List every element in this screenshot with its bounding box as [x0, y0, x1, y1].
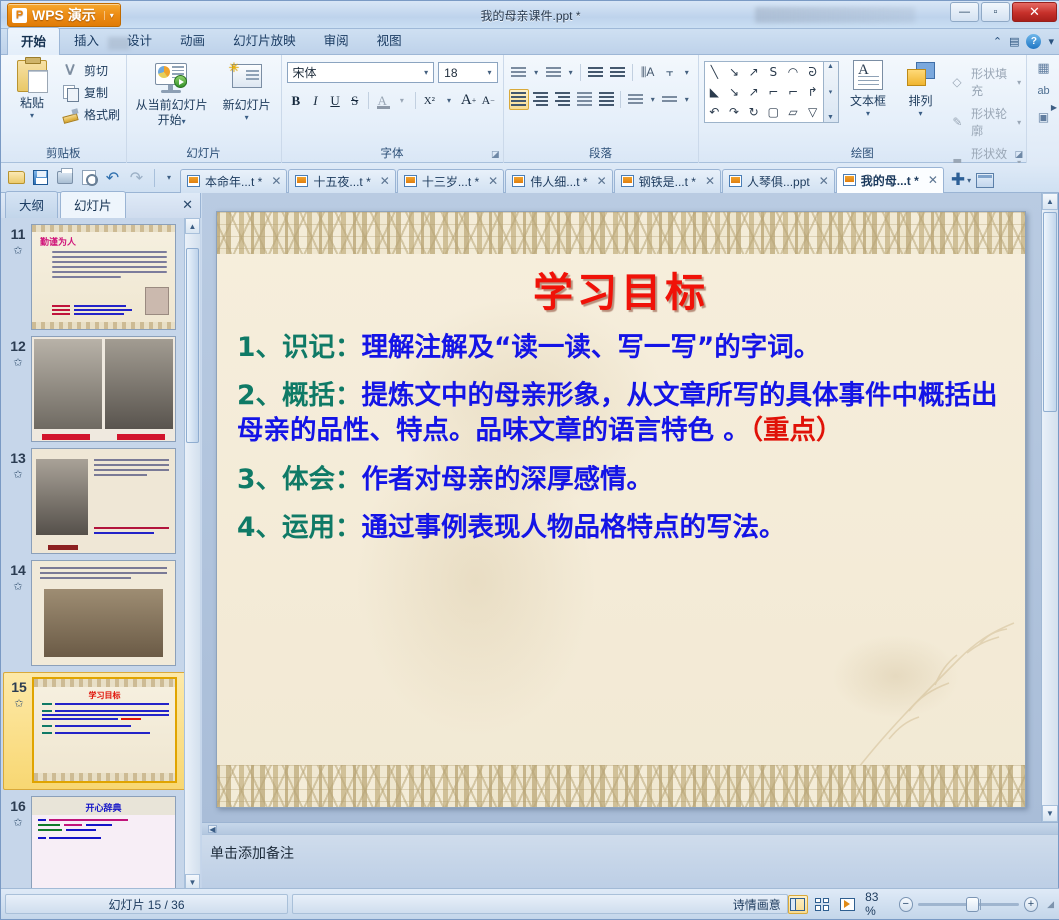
zoom-slider[interactable]: [918, 903, 1019, 906]
shape-rectangle[interactable]: ▢: [763, 102, 783, 122]
arrange-label: 排列: [898, 92, 944, 109]
ribbon-group-paragraph: ▾ ▾ ⫼A ⫟ ▾ ▾ ▾: [503, 55, 698, 163]
wps-logo-icon: P: [12, 8, 27, 23]
notes-placeholder[interactable]: 单击添加备注: [210, 843, 1058, 863]
find-replace-icon[interactable]: ab: [1033, 85, 1055, 105]
close-icon[interactable]: ✕: [267, 174, 281, 188]
divider: [415, 92, 416, 109]
shape-parallelogram[interactable]: ▱: [783, 102, 803, 122]
print-button[interactable]: [54, 167, 75, 188]
align-right-button[interactable]: [552, 89, 573, 110]
replace-fonts-icon[interactable]: ▦: [1033, 60, 1055, 80]
close-icon[interactable]: ✕: [924, 173, 938, 187]
chevron-down-icon[interactable]: ▾: [440, 90, 459, 111]
play-slideshow-icon: [840, 898, 855, 911]
copy-icon: [62, 85, 79, 101]
cut-button[interactable]: 剪切: [62, 62, 120, 79]
slide-bullet-1: 1、识记：理解注解及“读一读、写一写”的字词。: [237, 330, 1009, 365]
presentation-file-icon: [187, 175, 200, 187]
thumbnail-preview: 开心辞典: [31, 796, 176, 890]
document-tab-bar: ↶ ↷ ▾ 本命年...t * ✕ 十五夜...t * ✕ 十三岁...t * …: [1, 163, 1059, 193]
wps-app-button[interactable]: P WPS 演示 ▾: [7, 3, 121, 27]
document-tab-label: 伟人细...t *: [530, 173, 587, 190]
chevron-down-icon[interactable]: ▾: [1017, 78, 1021, 87]
group-label-font: 字体: [282, 145, 503, 161]
font-dialog-launcher[interactable]: ◪: [491, 149, 500, 160]
superscript-button[interactable]: X²: [420, 90, 439, 111]
scissors-icon: [62, 63, 79, 79]
fill-bucket-icon: ◇: [952, 75, 966, 89]
from-current-label: 从当前幻灯片: [132, 98, 212, 113]
shape-curved-connector[interactable]: ↶: [705, 102, 725, 122]
document-tab-label: 我的母...t *: [861, 172, 919, 189]
text-direction-button[interactable]: ⫼A: [637, 62, 658, 83]
zoom-slider-tick: [980, 899, 981, 910]
thumbnail-number: 15 ✩: [6, 677, 32, 783]
slide-title[interactable]: 学习目标: [217, 260, 1025, 318]
wps-presentation-window: 我的母亲课件.ppt * P WPS 演示 ▾ — ▫ ✕ 开始 插入 设计 动…: [0, 0, 1059, 920]
format-painter-button[interactable]: 格式刷: [62, 106, 120, 123]
resize-grip-icon[interactable]: ◢: [1043, 899, 1054, 910]
window-controls: — ▫ ✕: [950, 2, 1057, 22]
close-icon[interactable]: ✕: [815, 174, 829, 188]
maximize-button[interactable]: ▫: [981, 2, 1010, 22]
chevron-down-icon[interactable]: ▾: [681, 62, 692, 83]
font-color-button[interactable]: A: [373, 90, 392, 111]
shrink-font-button[interactable]: A−: [479, 90, 498, 111]
paste-icon: [17, 60, 47, 92]
title-bar: 我的母亲课件.ppt * P WPS 演示 ▾ — ▫ ✕: [1, 1, 1059, 29]
thumbnail-item-12[interactable]: 12 ✩: [1, 330, 201, 442]
document-tab-0[interactable]: 本命年...t * ✕: [180, 169, 287, 193]
arrange-icon: [905, 60, 937, 90]
shape-line-2[interactable]: ◣: [705, 82, 725, 102]
normal-view-icon: [790, 898, 805, 911]
chevron-down-icon[interactable]: ▾: [421, 68, 431, 77]
new-slide-icon: ✳: [227, 62, 267, 96]
ribbon-group-slide: 从当前幻灯片 开始▾ ✳ 新幻灯片 ▾ 幻灯片: [126, 55, 281, 163]
shape-trapezoid[interactable]: ▽: [803, 102, 823, 122]
chevron-down-icon[interactable]: ▾: [393, 90, 412, 111]
pen-outline-icon: ✎: [952, 115, 966, 129]
divider: [154, 169, 155, 187]
slideshow-view-button[interactable]: [837, 895, 857, 914]
status-bar: 幻灯片 15 / 36 诗情画意 83 % − + ◢: [1, 888, 1059, 919]
group-label-slide: 幻灯片: [127, 145, 281, 161]
bullet-number: 2、: [237, 380, 282, 411]
thumbnail-preview: [31, 560, 176, 666]
splitter-grip-icon[interactable]: ◀: [208, 825, 217, 833]
redo-button[interactable]: ↷: [126, 167, 147, 188]
document-tab-1[interactable]: 十五夜...t * ✕: [288, 169, 395, 193]
minimize-button[interactable]: —: [950, 2, 979, 22]
chevron-down-icon[interactable]: ▾: [843, 109, 894, 118]
align-text-button[interactable]: ⫟: [659, 62, 680, 83]
scrollbar-thumb[interactable]: [186, 248, 199, 443]
presentation-file-icon: [729, 175, 742, 187]
shape-arrow[interactable]: ↘: [724, 62, 744, 82]
thumbnail-preview: [31, 448, 176, 554]
scroll-more-icon[interactable]: ▾: [829, 88, 833, 96]
paste-button[interactable]: 粘贴 ▾: [6, 58, 58, 123]
ribbon-tab-review[interactable]: 审阅: [310, 26, 363, 54]
slide-navigator-pane: 大纲 幻灯片 ✕ 11 ✩ 勤谨为人: [1, 193, 201, 890]
document-tab-4[interactable]: 钢铁是...t * ✕: [614, 169, 721, 193]
ribbon-group-drawing: ╲ ↘ ↗ S ◠ ᘒ ◣ ↘ ↗ ⌐ ⌐ ↱ ↶ ↷ ↻: [698, 55, 1027, 163]
wps-brand-label: WPS 演示: [32, 5, 96, 25]
scroll-up-icon[interactable]: ▲: [1042, 193, 1058, 210]
shape-outline-label: 形状轮廓: [971, 105, 1012, 139]
paste-label: 粘贴: [6, 94, 58, 111]
shape-arrow-2[interactable]: ↘: [724, 82, 744, 102]
bullet-highlight: （重点）: [750, 415, 843, 446]
distribute-button[interactable]: [596, 89, 617, 110]
thumbnail-item-16[interactable]: 16 ✩ 开心辞典: [1, 790, 201, 890]
scrollbar-thumb[interactable]: [1043, 212, 1057, 412]
ribbon-tab-insert[interactable]: 插入: [60, 26, 113, 54]
branch-decoration: [849, 619, 1019, 769]
ribbon-group-clipboard: 粘贴 ▾ 剪切 复制 格式刷: [1, 55, 126, 163]
tab-outline[interactable]: 大纲: [5, 191, 58, 218]
close-icon[interactable]: ✕: [701, 174, 715, 188]
ribbon-overflow-arrow[interactable]: ▶: [1051, 103, 1057, 112]
thumbnail-number: 16 ✩: [5, 796, 31, 890]
font-name-input[interactable]: 宋体 ▾: [287, 62, 435, 83]
thumbnail-item-13[interactable]: 13 ✩: [1, 442, 201, 554]
redo-icon: ↷: [130, 168, 143, 187]
bullet-body: 通过事例表现人物品格特点的写法。: [361, 512, 785, 543]
slide-thumbnail-list[interactable]: 11 ✩ 勤谨为人: [1, 218, 201, 890]
ribbon-tab-animation[interactable]: 动画: [166, 26, 219, 54]
slide-bullet-3: 3、体会：作者对母亲的深厚感情。: [237, 462, 1009, 497]
scroll-up-icon[interactable]: ▲: [185, 218, 200, 234]
bullet-list-button[interactable]: [509, 62, 530, 83]
chevron-down-icon[interactable]: ▾: [565, 62, 576, 83]
font-size-input[interactable]: 18 ▾: [438, 62, 497, 83]
ribbon-right-controls: ⌃ ▤ ? ▾: [993, 34, 1054, 49]
ribbon-tab-home[interactable]: 开始: [7, 27, 60, 55]
scroll-down-icon[interactable]: ▼: [1042, 805, 1058, 822]
open-folder-icon: [8, 171, 25, 184]
animation-star-icon: ✩: [5, 468, 31, 481]
help-icon[interactable]: ?: [1026, 34, 1041, 49]
ribbon-tab-strip: 开始 插入 设计 动画 幻灯片放映 审阅 视图 ⌃ ▤ ? ▾: [1, 29, 1059, 55]
document-tab-3[interactable]: 伟人细...t * ✕: [505, 169, 612, 193]
font-name-value: 宋体: [293, 64, 422, 81]
shape-fill-label: 形状填充: [971, 65, 1012, 99]
document-tab-label: 本命年...t *: [205, 173, 262, 190]
animation-star-icon: ✩: [5, 580, 31, 593]
slide-bottom-border-pattern: [217, 765, 1025, 807]
thumbnail-title: 学习目标: [34, 690, 175, 701]
chevron-down-icon[interactable]: ▾: [104, 11, 114, 20]
document-tab-2[interactable]: 十三岁...t * ✕: [397, 169, 504, 193]
bullet-body: 理解注解及“读一读、写一写”的字词。: [361, 332, 820, 363]
italic-button[interactable]: I: [306, 90, 325, 111]
grow-font-button[interactable]: A+: [459, 90, 478, 111]
slide-sorter-icon: [815, 898, 829, 911]
bullet-body: 作者对母亲的深厚感情。: [361, 464, 653, 495]
thumbnail-number: 14 ✩: [5, 560, 31, 666]
slide-vertical-scrollbar[interactable]: ▲ ▼: [1041, 193, 1058, 822]
bullet-keyword: 识记：: [282, 332, 362, 363]
copy-button[interactable]: 复制: [62, 84, 120, 101]
shape-elbow-double[interactable]: ↱: [803, 82, 823, 102]
thumbnail-number: 12 ✩: [5, 336, 31, 442]
slide-editor-area: 学习目标 1、识记：理解注解及“读一读、写一写”的字词。 2、概括：提炼文中的母…: [202, 193, 1058, 822]
ribbon-group-font: 宋体 ▾ 18 ▾ B I U S A ▾ X² ▾ A+ A: [281, 55, 503, 163]
animation-star-icon: ✩: [5, 816, 31, 829]
start-from-current-slide-button[interactable]: 从当前幻灯片 开始▾: [132, 62, 212, 128]
slide-counter: 幻灯片 15 / 36: [5, 894, 288, 914]
ribbon-tab-slideshow[interactable]: 幻灯片放映: [219, 26, 310, 54]
chevron-down-icon[interactable]: ▾: [6, 111, 58, 120]
zoom-slider-handle[interactable]: [966, 897, 979, 912]
increase-indent-button[interactable]: [607, 62, 628, 83]
bullet-keyword: 体会：: [282, 464, 362, 495]
ribbon-tab-view[interactable]: 视图: [363, 26, 416, 54]
document-tab-label: 十三岁...t *: [422, 173, 479, 190]
thumbnail-preview: 勤谨为人: [31, 224, 176, 330]
save-button[interactable]: [30, 167, 51, 188]
document-tab-6-active[interactable]: 我的母...t * ✕: [836, 167, 944, 193]
quick-access-more-icon[interactable]: ▾: [162, 173, 176, 182]
shape-fill-button[interactable]: ◇ 形状填充 ▾: [952, 65, 1021, 99]
shape-scribble[interactable]: ᘒ: [803, 62, 823, 82]
slide-canvas[interactable]: 学习目标 1、识记：理解注解及“读一读、写一写”的字词。 2、概括：提炼文中的母…: [216, 211, 1026, 808]
strikethrough-button[interactable]: S: [345, 90, 364, 111]
scroll-down-icon[interactable]: ▼: [827, 114, 834, 121]
bullet-number: 3、: [237, 464, 282, 495]
thumbnail-item-14[interactable]: 14 ✩: [1, 554, 201, 666]
ribbon-tab-design[interactable]: 设计: [113, 26, 166, 54]
template-icon[interactable]: ▤: [1009, 35, 1019, 48]
quick-access-toolbar: ↶ ↷ ▾: [6, 167, 180, 188]
drawing-dialog-launcher[interactable]: ◪: [1015, 149, 1024, 160]
copy-label: 复制: [84, 84, 108, 101]
chevron-down-icon[interactable]: ▾: [1048, 35, 1054, 48]
undo-icon: ↶: [106, 168, 119, 187]
chevron-down-icon[interactable]: ▾: [647, 89, 658, 110]
document-tab-label: 十五夜...t *: [313, 173, 370, 190]
title-bar-ghost-toolbar: [755, 7, 915, 23]
shape-line[interactable]: ╲: [705, 62, 725, 82]
thumbnail-preview: 学习目标: [32, 677, 177, 783]
document-tab-5[interactable]: 人琴俱...ppt ✕: [722, 169, 835, 193]
from-current-label2: 开始: [158, 113, 182, 127]
divider: [368, 92, 369, 109]
slide-top-border-pattern: [217, 212, 1025, 254]
notes-splitter[interactable]: ◀: [202, 822, 1058, 834]
printer-icon: [57, 171, 73, 184]
thumbnail-title: 勤谨为人: [40, 235, 76, 248]
slide-bullet-2: 2、概括：提炼文中的母亲形象，从文章所写的具体事件中概括出母亲的品性、特点。品味…: [237, 378, 1009, 448]
ribbon-body: 粘贴 ▾ 剪切 复制 格式刷: [1, 55, 1059, 163]
thumbnail-number: 13 ✩: [5, 448, 31, 554]
thumbnail-title: 开心辞典: [32, 801, 175, 814]
document-tab-label: 人琴俱...ppt: [747, 173, 810, 190]
new-slide-button[interactable]: ✳ 新幻灯片 ▾: [218, 62, 276, 128]
status-bar-right: 83 % − + ◢: [788, 890, 1059, 918]
shapes-gallery[interactable]: ╲ ↘ ↗ S ◠ ᘒ ◣ ↘ ↗ ⌐ ⌐ ↱ ↶ ↷ ↻: [704, 61, 824, 123]
close-pane-icon[interactable]: ✕: [182, 197, 193, 213]
group-label-drawing: 绘图: [699, 145, 1027, 161]
bullet-keyword: 概括：: [282, 380, 362, 411]
thumbnail-preview: [31, 336, 176, 442]
textbox-icon: [853, 60, 883, 90]
save-icon: [33, 170, 48, 185]
chevron-down-icon[interactable]: ▾: [898, 109, 944, 118]
document-tab-label: 钢铁是...t *: [639, 173, 696, 190]
animation-star-icon: ✩: [6, 697, 32, 710]
line-spacing-button[interactable]: [625, 89, 646, 110]
window-list-button[interactable]: [976, 173, 994, 188]
align-left-button[interactable]: [509, 89, 530, 110]
divider: [632, 64, 633, 81]
bold-button[interactable]: B: [287, 90, 306, 111]
print-preview-icon: [82, 170, 96, 185]
shape-curved-double[interactable]: ↻: [744, 102, 764, 122]
textbox-label: 文本框: [843, 92, 894, 109]
shapes-gallery-scrollbar[interactable]: ▲ ▾ ▼: [824, 61, 839, 123]
animation-star-icon: ✩: [5, 244, 31, 257]
notes-pane[interactable]: 单击添加备注: [202, 834, 1058, 890]
decrease-indent-button[interactable]: [585, 62, 606, 83]
chevron-down-icon[interactable]: ▾: [484, 68, 494, 77]
shape-freeform[interactable]: ◠: [783, 62, 803, 82]
cut-label: 剪切: [84, 62, 108, 79]
bullet-keyword: 运用：: [282, 512, 362, 543]
new-slide-label: 新幻灯片: [218, 98, 276, 113]
presentation-file-icon: [621, 175, 634, 187]
paintbrush-icon: [62, 107, 79, 123]
collapse-ribbon-icon[interactable]: ⌃: [993, 35, 1002, 48]
divider: [580, 64, 581, 81]
group-label-clipboard: 剪贴板: [1, 145, 126, 161]
shape-double-arrow[interactable]: ↗: [744, 62, 764, 82]
tab-slides[interactable]: 幻灯片: [60, 191, 126, 218]
bullet-number: 1、: [237, 332, 282, 363]
slide-bullet-4: 4、运用：通过事例表现人物品格特点的写法。: [237, 510, 1009, 545]
zoom-out-button[interactable]: −: [899, 897, 913, 912]
present-from-current-icon: [152, 62, 192, 96]
select-objects-icon[interactable]: ▣: [1033, 110, 1055, 130]
navigator-scrollbar[interactable]: ▲ ▼: [184, 218, 200, 890]
thumbnail-item-11[interactable]: 11 ✩ 勤谨为人: [1, 218, 201, 330]
presentation-file-icon: [404, 175, 417, 187]
scroll-up-icon[interactable]: ▲: [827, 63, 834, 70]
new-document-button[interactable]: ✚: [945, 170, 967, 190]
slide-sorter-view-button[interactable]: [813, 895, 833, 914]
shape-arrow-3[interactable]: ↗: [744, 82, 764, 102]
ribbon-overflow-group: ▦ ab ▣ ▶: [1026, 55, 1059, 163]
presentation-file-icon: [512, 175, 525, 187]
shape-curve[interactable]: S: [763, 62, 783, 82]
zoom-in-button[interactable]: +: [1024, 897, 1038, 912]
undo-button[interactable]: ↶: [102, 167, 123, 188]
thumbnail-item-15-selected[interactable]: 15 ✩ 学习目标: [3, 672, 197, 790]
shape-elbow-connector[interactable]: ⌐: [763, 82, 783, 102]
animation-star-icon: ✩: [5, 356, 31, 369]
chevron-down-icon[interactable]: ▾: [218, 113, 276, 123]
print-preview-button[interactable]: [78, 167, 99, 188]
close-button[interactable]: ✕: [1012, 2, 1057, 22]
shape-elbow-arrow[interactable]: ⌐: [783, 82, 803, 102]
chevron-down-icon[interactable]: ▾: [681, 89, 692, 110]
navigator-tab-strip: 大纲 幻灯片 ✕: [1, 193, 200, 218]
bullet-number: 4、: [237, 512, 282, 543]
close-icon[interactable]: ✕: [484, 174, 498, 188]
normal-view-button[interactable]: [788, 895, 808, 914]
presentation-file-icon: [295, 175, 308, 187]
shape-outline-button[interactable]: ✎ 形状轮廓 ▾: [952, 105, 1021, 139]
paragraph-spacing-button[interactable]: [659, 89, 680, 110]
open-button[interactable]: [6, 167, 27, 188]
chevron-down-icon[interactable]: ▾: [182, 117, 186, 126]
divider: [620, 91, 621, 108]
close-icon[interactable]: ✕: [376, 174, 390, 188]
shape-curved-arrow[interactable]: ↷: [724, 102, 744, 122]
group-label-paragraph: 段落: [504, 145, 698, 161]
numbered-list-button[interactable]: [543, 62, 564, 83]
close-icon[interactable]: ✕: [593, 174, 607, 188]
chevron-down-icon[interactable]: ▾: [530, 62, 541, 83]
underline-button[interactable]: U: [326, 90, 345, 111]
justify-button[interactable]: [574, 89, 595, 110]
format-painter-label: 格式刷: [84, 106, 120, 123]
chevron-down-icon[interactable]: ▾: [967, 176, 976, 185]
align-center-button[interactable]: [530, 89, 551, 110]
theme-name: 诗情画意: [292, 894, 788, 914]
thumbnail-number: 11 ✩: [5, 224, 31, 330]
slide-body-text[interactable]: 1、识记：理解注解及“读一读、写一写”的字词。 2、概括：提炼文中的母亲形象，从…: [237, 330, 1009, 558]
zoom-level[interactable]: 83 %: [862, 890, 894, 918]
font-size-value: 18: [444, 66, 484, 80]
chevron-down-icon[interactable]: ▾: [1017, 118, 1021, 127]
presentation-file-icon: [843, 174, 856, 186]
